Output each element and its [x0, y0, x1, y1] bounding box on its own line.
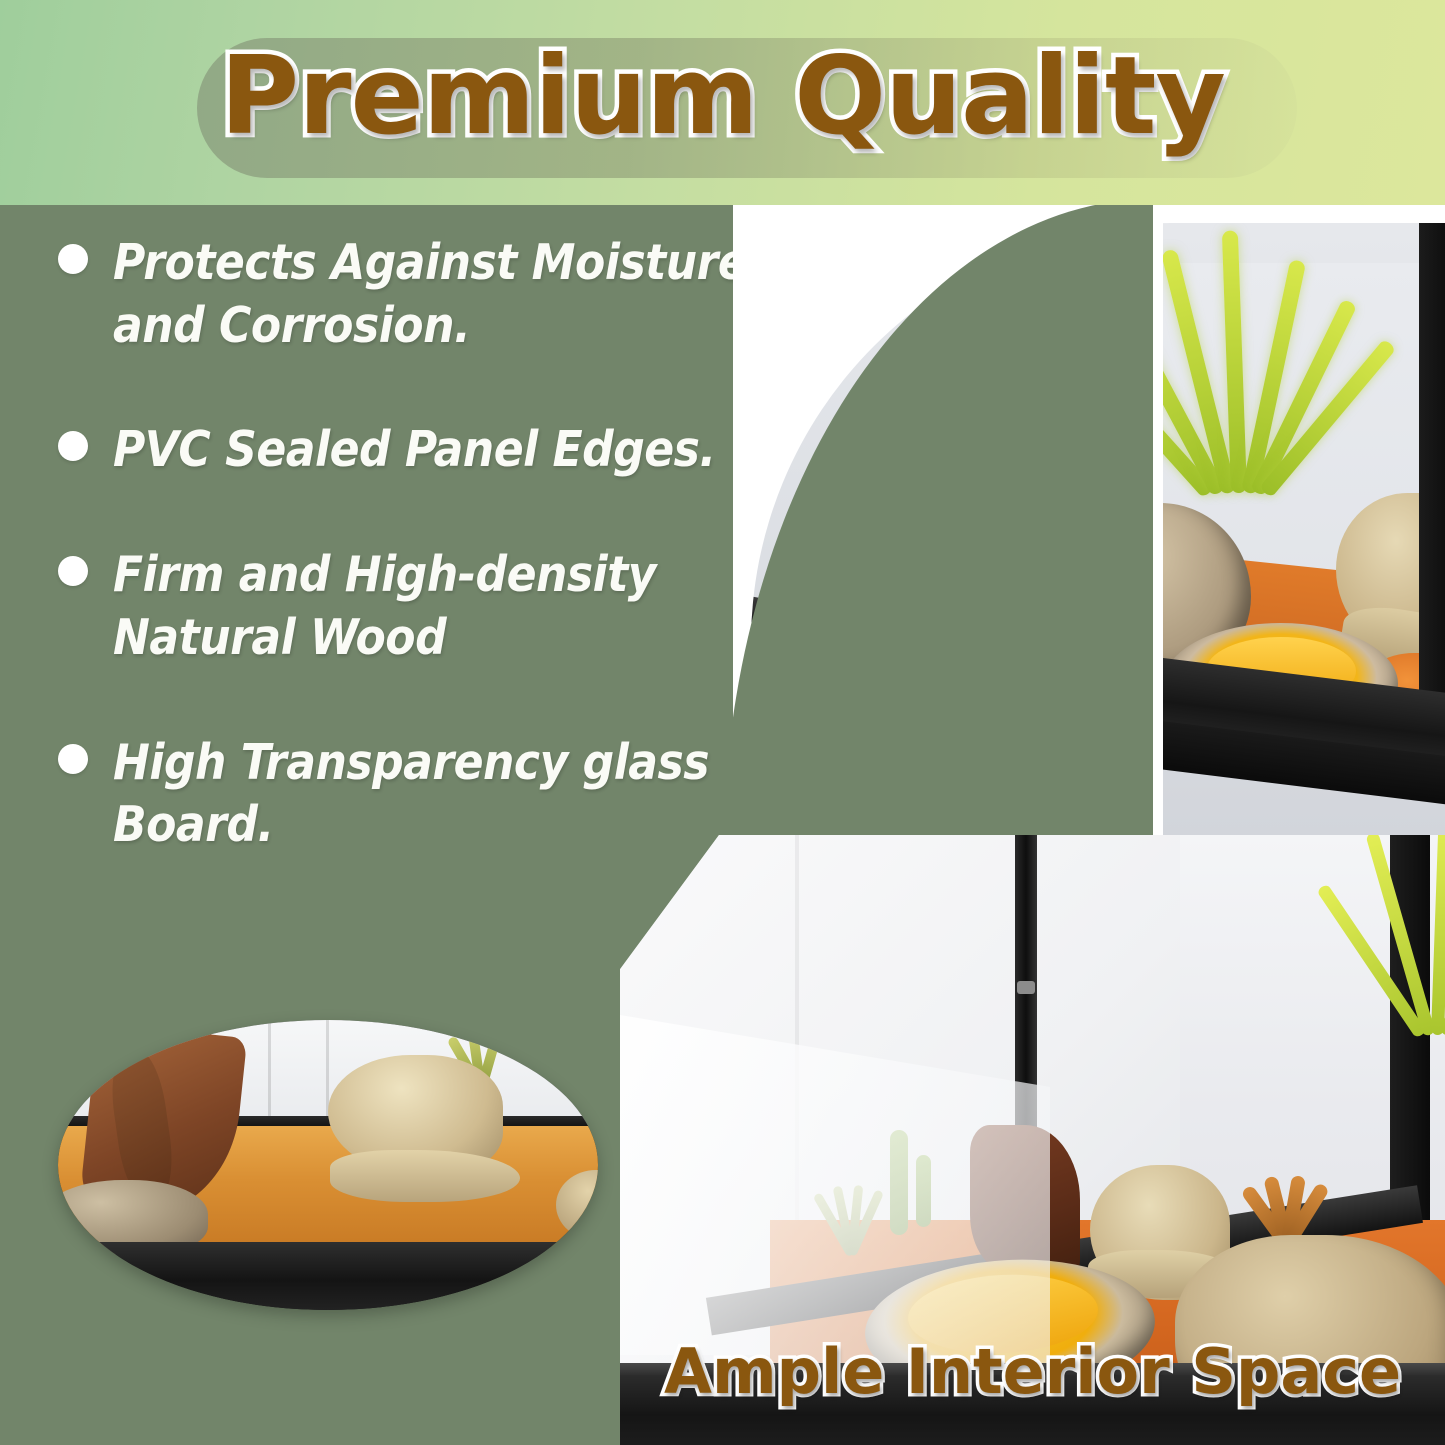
bullet-dot-icon	[58, 244, 88, 274]
feature-list: Protects Against Moisture and Corrosion.…	[58, 232, 818, 919]
door-latch-icon	[1017, 981, 1035, 994]
fern-plant	[1365, 835, 1445, 1155]
list-item: PVC Sealed Panel Edges.	[58, 419, 818, 482]
bullet-dot-icon	[58, 556, 88, 586]
photo-glass-board-closeup	[58, 1020, 598, 1310]
bullet-dot-icon	[58, 744, 88, 774]
photo-caption: Ample Interior Space	[620, 1335, 1445, 1408]
page-title: Premium Quality	[0, 34, 1445, 159]
fern-frond	[1431, 835, 1445, 1035]
terrarium-base	[58, 1242, 598, 1310]
feature-text: High Transparency glass Board.	[113, 732, 813, 857]
product-infographic: Premium Quality Protects Against Moistur…	[0, 0, 1445, 1445]
list-item: High Transparency glass Board.	[58, 732, 818, 857]
bullet-dot-icon	[58, 431, 88, 461]
dinosaur-skull-jaw	[330, 1150, 520, 1202]
list-item: Firm and High-density Natural Wood	[58, 544, 818, 669]
feature-text: Firm and High-density Natural Wood	[113, 544, 813, 669]
feature-text: PVC Sealed Panel Edges.	[113, 419, 716, 482]
feature-text: Protects Against Moisture and Corrosion.	[113, 232, 813, 357]
list-item: Protects Against Moisture and Corrosion.	[58, 232, 818, 357]
photo-curve-mask	[733, 205, 1153, 835]
plant-decor-right	[1225, 1135, 1355, 1245]
photo-terrarium-corner-closeup	[733, 205, 1445, 835]
glass-panel-seam	[268, 1020, 271, 1120]
